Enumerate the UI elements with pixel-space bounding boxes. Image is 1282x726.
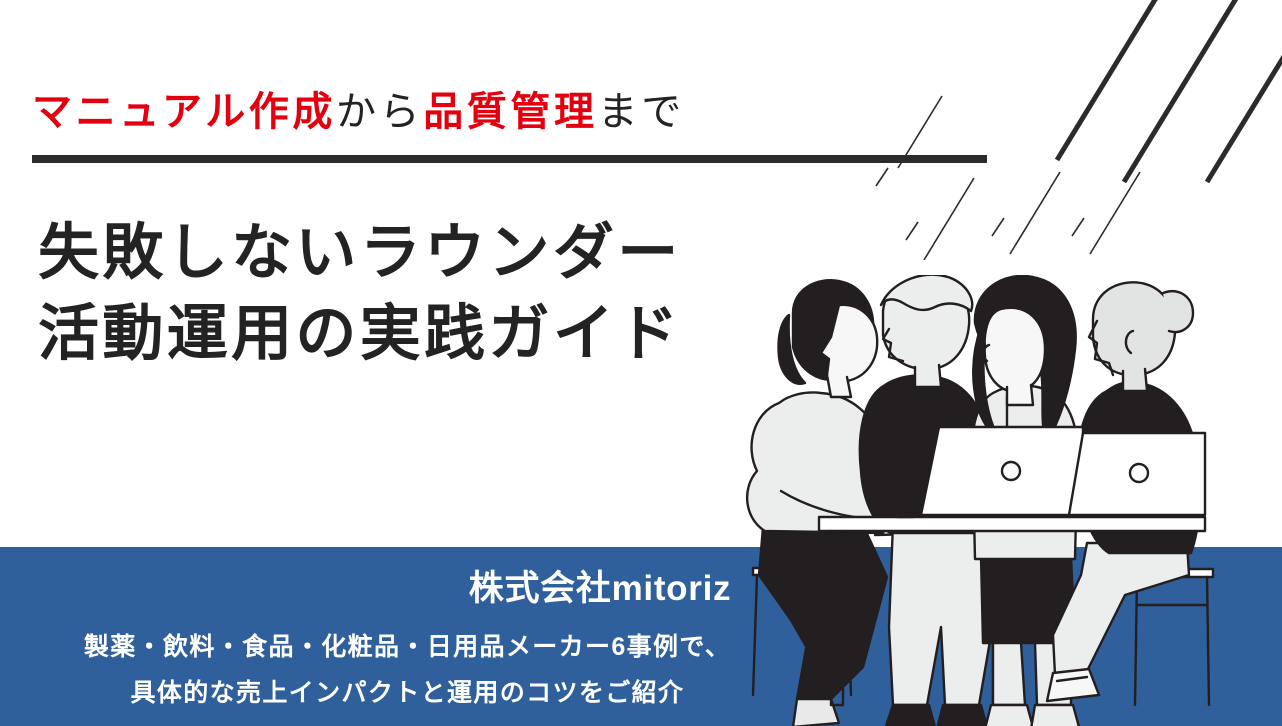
laptop-right: [1069, 433, 1205, 515]
diagonal-stripes-decoration: [862, 0, 1282, 260]
page-title-line-1: 失敗しないラウンダー: [38, 212, 682, 293]
eyebrow-segment-1: マニュアル作成: [32, 90, 336, 134]
page-title: 失敗しないラウンダー 活動運用の実践ガイド: [38, 212, 682, 374]
eyebrow-divider-rule: [32, 155, 987, 163]
eyebrow-segment-4: まで: [598, 90, 685, 134]
footer-subtitle-line-1: 製薬・飲料・食品・化粧品・日用品メーカー6事例で、: [0, 624, 815, 670]
laptop-center: [921, 427, 1083, 515]
company-name: 株式会社mitoriz: [0, 560, 1200, 611]
page-title-line-2: 活動運用の実践ガイド: [38, 293, 682, 374]
eyebrow-headline: マニュアル作成から品質管理まで: [32, 92, 685, 132]
meeting-illustration: [735, 275, 1282, 726]
footer-subtitle: 製薬・飲料・食品・化粧品・日用品メーカー6事例で、 具体的な売上インパクトと運用…: [0, 624, 815, 717]
eyebrow-segment-2: から: [336, 90, 423, 134]
footer-subtitle-line-2: 具体的な売上インパクトと運用のコツをご紹介: [0, 670, 815, 716]
eyebrow-segment-3: 品質管理: [423, 90, 597, 134]
banner-canvas: マニュアル作成から品質管理まで 失敗しないラウンダー 活動運用の実践ガイド: [0, 0, 1282, 726]
coffee-cup: [895, 473, 915, 517]
